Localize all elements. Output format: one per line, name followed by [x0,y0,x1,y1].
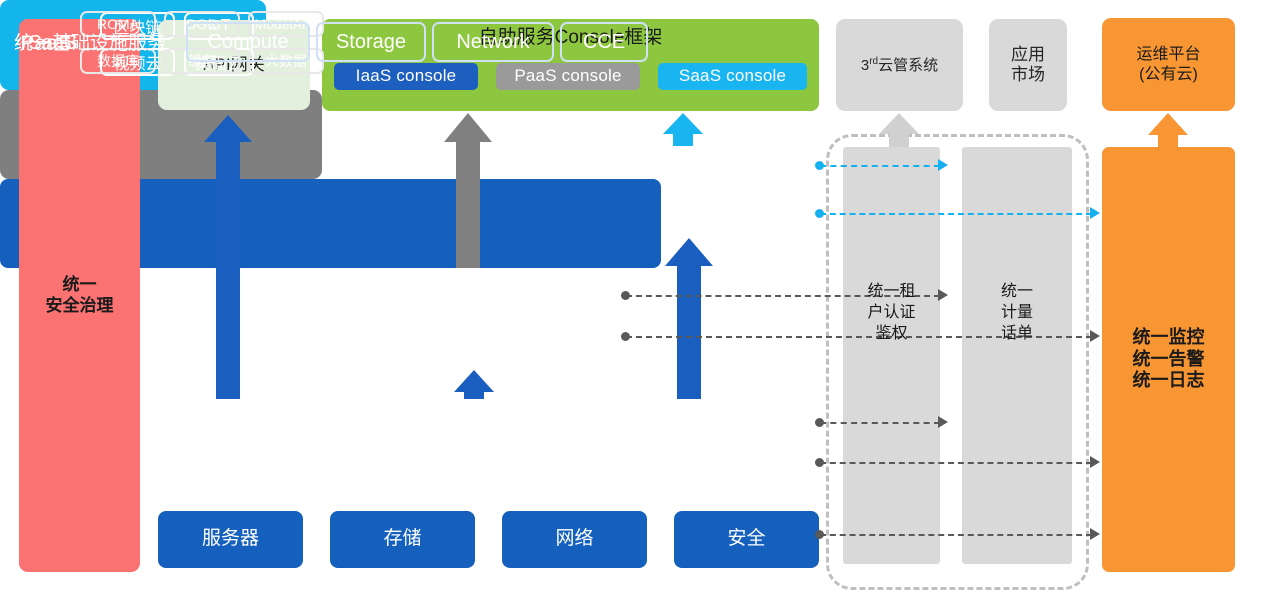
infra-chip-network[interactable]: Network [432,22,554,62]
third-party-label: 3rd云管系统 [861,56,938,75]
arrow-saas-to-console [663,113,703,146]
app-market-box: 应用 市场 [989,19,1067,111]
dot-saas-auth [815,161,824,170]
paas-console-chip[interactable]: PaaS console [496,63,640,90]
saas-console-chip[interactable]: SaaS console [658,63,807,90]
app-market-line1: 应用 [1011,45,1045,65]
dashed-infra-to-ops [820,462,1092,464]
arrow-ops-panel-to-ops-top [1148,113,1188,147]
architecture-diagram: 统一 安全治理 API网关 自助服务Console框架 IaaS console… [0,0,1265,605]
unified-tenant-auth-label: 统一租 户认证 鉴权 [843,281,940,344]
dashed-bottom-to-ops [820,534,1092,536]
bottom-box-security: 安全 [674,511,819,568]
arrow-infra-to-paas [454,370,494,399]
infra-chip-cce[interactable]: CCE [560,22,648,62]
third-party-sup: rd [869,56,878,67]
arrowhead-bottom-ops [1090,528,1100,540]
arrowhead-paas-auth [938,289,948,301]
auth-line1: 统一租 [843,281,940,302]
third-party-rest: 云管系统 [878,57,938,74]
third-party-cloud-management-box: 3rd云管系统 [836,19,963,111]
arrowhead-infra-ops [1090,456,1100,468]
iaas-console-chip[interactable]: IaaS console [334,63,478,90]
bottom-box-server: 服务器 [158,511,303,568]
arrowhead-paas-ops [1090,330,1100,342]
unified-security-governance-panel: 统一 安全治理 [19,19,140,572]
dot-infra-auth [815,418,824,427]
unified-metering-bar [962,147,1072,564]
infra-chip-compute[interactable]: Compute [186,22,310,62]
ops-top-line1: 运维平台 [1136,45,1200,64]
arrowhead-saas-auth [938,159,948,171]
infrastructure-label: 统一基础设施服务 [14,28,166,55]
dashed-infra-to-auth [820,422,940,424]
auth-line3: 鉴权 [843,323,940,344]
unified-tenant-auth-bar [843,147,940,564]
dot-infra-ops [815,458,824,467]
arrowhead-infra-auth [938,416,948,428]
bottom-box-network: 网络 [502,511,647,568]
dot-paas-ops [621,332,630,341]
arrowhead-saas-ops [1090,207,1100,219]
arrow-infra-to-saas [665,238,713,399]
ops-top-line2: (公有云) [1136,65,1200,84]
ops-panel-line3: 统一日志 [1133,370,1205,392]
dot-bottom-ops [815,530,824,539]
security-panel-line1: 统一 [46,275,114,295]
app-market-line2: 市场 [1011,65,1045,85]
unified-metering-label: 统一 计量 话单 [962,281,1072,344]
dashed-saas-to-ops [820,213,1092,215]
auth-line2: 户认证 [843,302,940,323]
meter-line2: 计量 [962,302,1072,323]
dot-saas-ops [815,209,824,218]
ops-platform-public-cloud-box: 运维平台 (公有云) [1102,18,1235,111]
dashed-saas-to-auth [820,165,940,167]
unified-monitoring-panel: 统一监控 统一告警 统一日志 [1102,147,1235,572]
ops-panel-line2: 统一告警 [1133,349,1205,371]
infra-chip-storage[interactable]: Storage [316,22,426,62]
security-panel-line2: 安全治理 [46,296,114,316]
dot-paas-auth [621,291,630,300]
third-party-prefix: 3 [861,57,869,74]
meter-line3: 话单 [962,323,1072,344]
bottom-box-storage: 存储 [330,511,475,568]
ops-panel-line1: 统一监控 [1133,327,1205,349]
meter-line1: 统一 [962,281,1072,302]
